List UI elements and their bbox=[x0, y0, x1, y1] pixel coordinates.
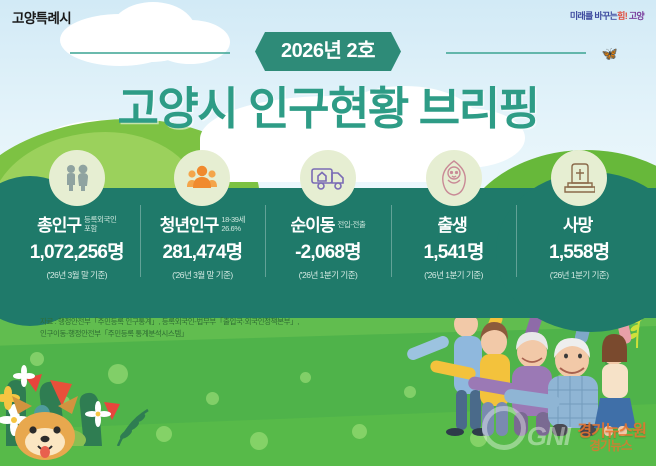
stat-value: 1,558명 bbox=[516, 243, 642, 262]
decor-dot bbox=[300, 372, 311, 383]
decor-dot bbox=[352, 424, 367, 439]
stat-label-row: 출생 bbox=[391, 212, 517, 238]
stat-note: ('26년 3월 말 기준) bbox=[140, 269, 266, 281]
stat-label-row: 총인구 등록외국인 포함 bbox=[14, 212, 140, 238]
stat-sublabel: 18-39세 26.6% bbox=[221, 216, 245, 233]
stat-label: 순이동 bbox=[290, 217, 334, 234]
decor-dot bbox=[206, 392, 219, 405]
butterfly-icon: 🦋 bbox=[602, 46, 618, 62]
gravestone-icon bbox=[551, 150, 607, 206]
slogan-part-2: 힘! bbox=[617, 11, 627, 21]
slogan-part-1: 미래를 바꾸는 bbox=[570, 11, 617, 21]
stat-label: 총인구 bbox=[37, 217, 81, 234]
stat-note: ('26년 1분기 기준) bbox=[265, 269, 391, 281]
stat-value: -2,068명 bbox=[265, 243, 391, 262]
stat-label-row: 순이동 전입-전출 bbox=[265, 212, 391, 238]
slogan-part-3: 고양 bbox=[629, 11, 644, 21]
stat-card-total-population: 총인구 등록외국인 포함 1,072,256명 ('26년 3월 말 기준) bbox=[14, 150, 140, 281]
source-footnote: 자료 : 행정안전부「주민등록 인구통계」, 등록외국인-법무부「출입국·외국인… bbox=[40, 316, 420, 341]
watermark-ring bbox=[482, 406, 526, 450]
stat-card-deaths: 사망 1,558명 ('26년 1분기 기준) bbox=[516, 150, 642, 281]
stat-value: 281,474명 bbox=[140, 243, 266, 262]
page-title: 고양시 인구현황 브리핑 bbox=[0, 84, 656, 134]
stat-note: ('26년 1분기 기준) bbox=[391, 269, 517, 281]
stat-card-net-migration: 순이동 전입-전출 -2,068명 ('26년 1분기 기준) bbox=[265, 150, 391, 281]
issue-badge-row: 2026년 2호 bbox=[0, 32, 656, 72]
two-people-icon bbox=[49, 150, 105, 206]
watermark-mark: GNI bbox=[527, 421, 570, 452]
stat-value: 1,072,256명 bbox=[14, 243, 140, 262]
stat-card-youth-population: 청년인구 18-39세 26.6% 281,474명 ('26년 3월 말 기준… bbox=[140, 150, 266, 281]
stat-value: 1,541명 bbox=[391, 243, 517, 262]
stat-sublabel: 전입-전출 bbox=[337, 221, 365, 230]
stat-note: ('26년 3월 말 기준) bbox=[14, 269, 140, 281]
stat-label: 사망 bbox=[563, 217, 592, 234]
stat-label: 청년인구 bbox=[160, 217, 219, 234]
stat-label-row: 사망 bbox=[516, 212, 642, 238]
stat-label-row: 청년인구 18-39세 26.6% bbox=[140, 212, 266, 238]
stat-card-births: 출생 1,541명 ('26년 1분기 기준) bbox=[391, 150, 517, 281]
city-brand-logo: 고양특례시 bbox=[12, 7, 71, 27]
stat-sublabel: 등록외국인 포함 bbox=[84, 216, 117, 233]
moving-truck-icon bbox=[300, 150, 356, 206]
decor-dot bbox=[250, 432, 268, 450]
city-slogan: 미래를 바꾸는힘! 고양 bbox=[570, 9, 644, 22]
stat-note: ('26년 1분기 기준) bbox=[516, 269, 642, 281]
poster: 고양특례시 미래를 바꾸는힘! 고양 2026년 2호 🦋 고양시 인구현황 브… bbox=[0, 0, 656, 466]
dog-illustration bbox=[6, 390, 84, 460]
stats-card-list: 총인구 등록외국인 포함 1,072,256명 ('26년 3월 말 기준) 청… bbox=[14, 150, 642, 300]
badge-rule-left bbox=[70, 52, 230, 54]
issue-badge: 2026년 2호 bbox=[255, 32, 401, 71]
baby-icon bbox=[426, 150, 482, 206]
group-people-icon bbox=[174, 150, 230, 206]
badge-rule-right bbox=[446, 52, 586, 54]
stat-label: 출생 bbox=[437, 217, 466, 234]
